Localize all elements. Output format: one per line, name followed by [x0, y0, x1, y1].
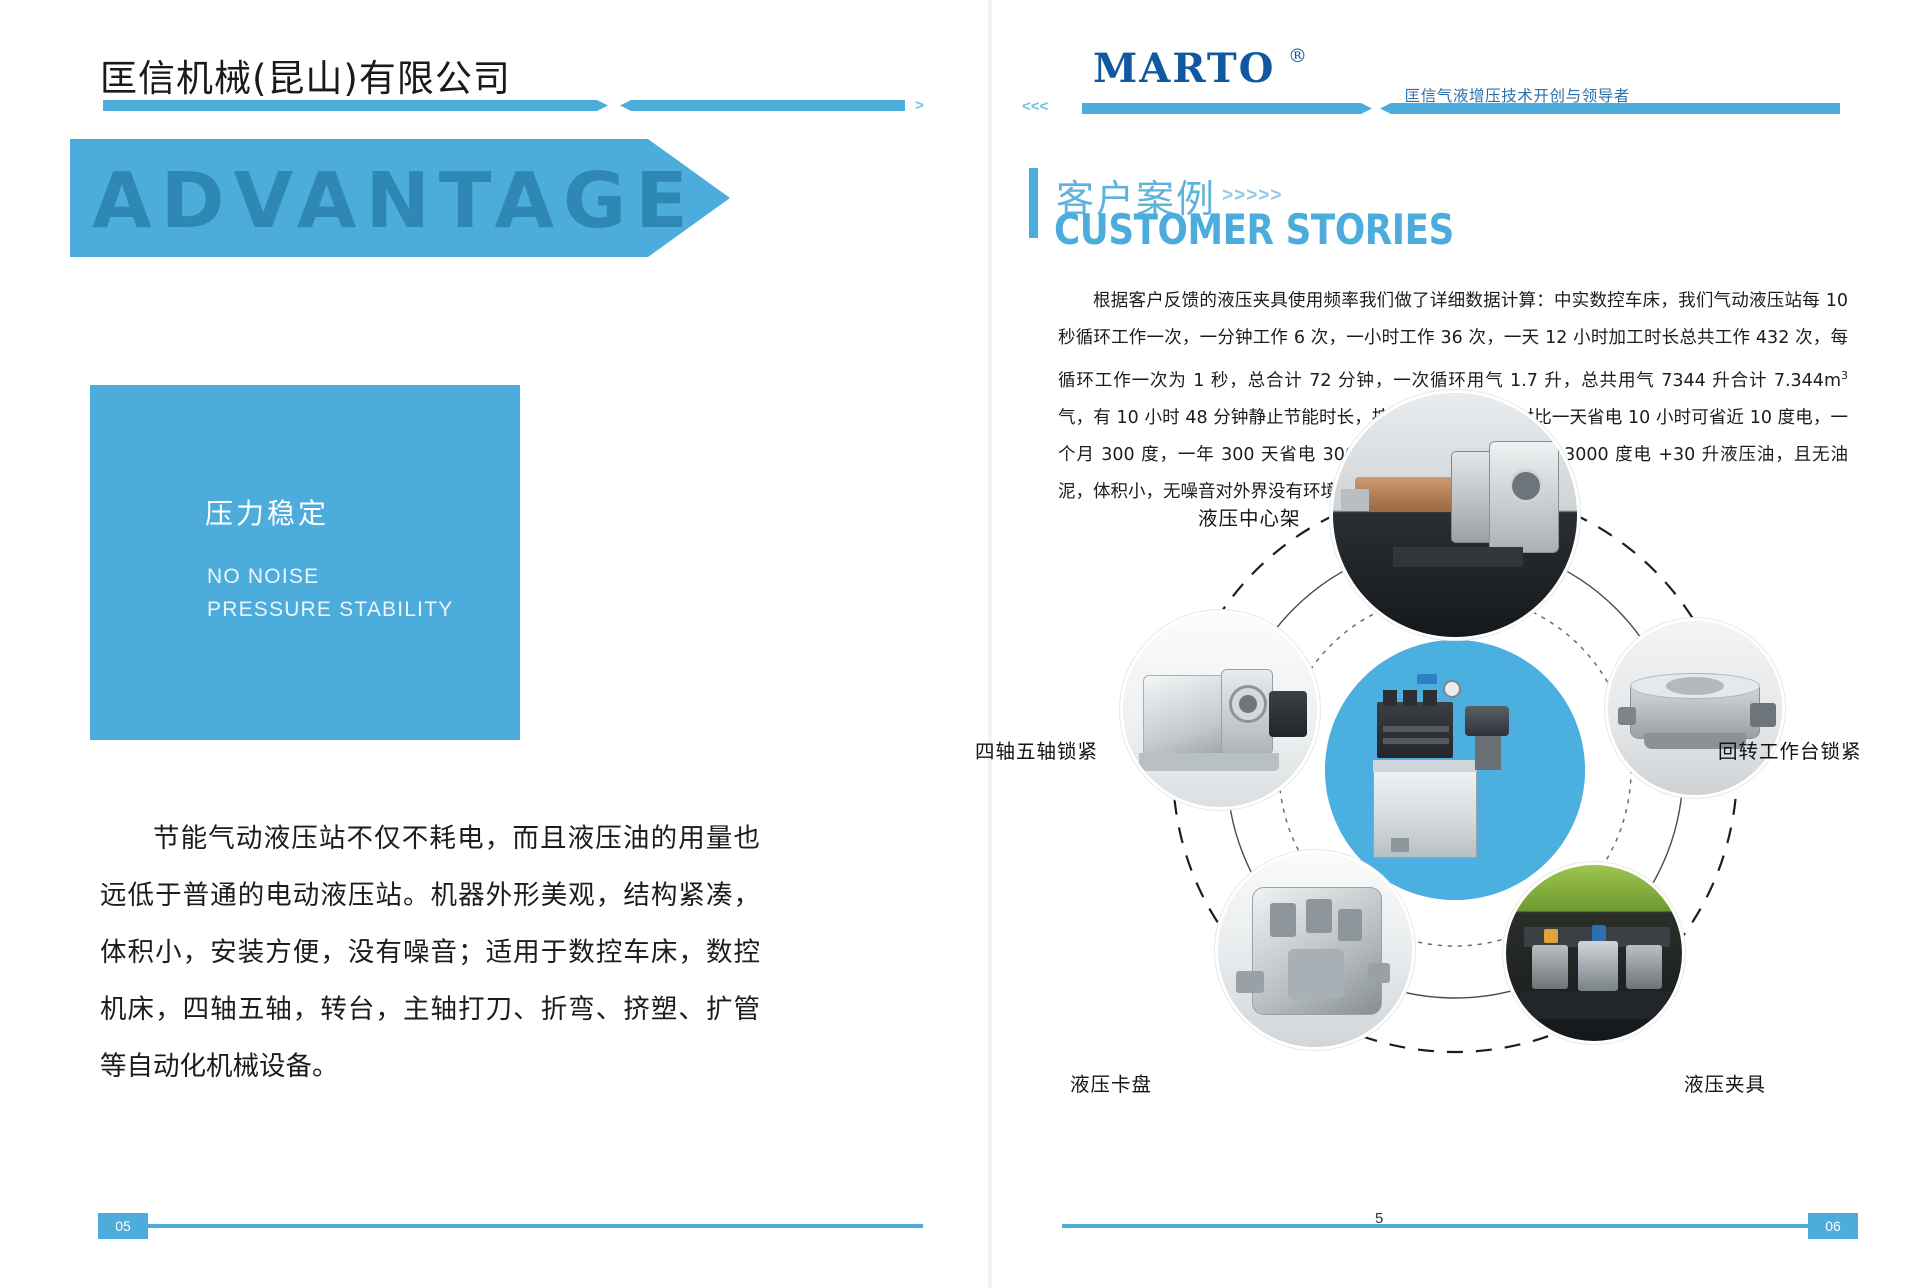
page-number-right: 06	[1808, 1213, 1858, 1239]
company-tagline: 匡信气液增压技术开创与领导者	[1405, 84, 1630, 106]
footer-rule-left	[103, 1224, 923, 1228]
left-body-paragraph: 节能气动液压站不仅不耗电，而且液压油的用量也远低于普通的电动液压站。机器外形美观…	[100, 810, 760, 1095]
registered-trademark-icon: ®	[1288, 45, 1307, 67]
label-hydraulic-center-frame: 液压中心架	[1198, 502, 1301, 531]
node-four-five-axis-clamp	[1120, 610, 1320, 810]
photo-hydraulic-chuck	[1218, 853, 1412, 1047]
feature-callout-box	[90, 385, 520, 740]
label-rotary-table-clamp: 回转工作台锁紧	[1718, 735, 1862, 764]
node-hydraulic-fixture	[1503, 862, 1685, 1044]
marto-logo: MARTO	[1093, 45, 1275, 92]
chevrons-right-icon: >>>>>	[1222, 185, 1282, 207]
cubic-meter-superscript: 3	[1841, 369, 1848, 382]
node-hydraulic-chuck	[1215, 850, 1415, 1050]
feature-title-cn: 压力稳定	[205, 492, 329, 532]
label-hydraulic-fixture: 液压夹具	[1684, 1068, 1766, 1097]
advantage-title: ADVANTAGE	[92, 160, 697, 244]
photo-four-five-axis-clamp	[1123, 613, 1317, 807]
footer-rule-right	[1062, 1224, 1852, 1228]
label-hydraulic-chuck: 液压卡盘	[1070, 1068, 1152, 1097]
chevron-right-icon: >	[915, 99, 924, 112]
page-number-left: 05	[98, 1213, 148, 1239]
feature-subtitle-no-noise: NO NOISE	[207, 565, 319, 589]
node-rotary-table-clamp	[1605, 618, 1785, 798]
header-bar-left-segment-1	[103, 100, 608, 111]
node-hydraulic-center-frame	[1330, 390, 1580, 640]
company-name: 匡信机械(昆山)有限公司	[100, 48, 511, 102]
page-number-center: 5	[1375, 1210, 1383, 1227]
section-title-en: CUSTOMER STORIES	[1054, 205, 1454, 254]
header-bar-right-segment-1	[1082, 103, 1372, 114]
left-page: 匡信机械(昆山)有限公司 > ADVANTAGE 压力稳定 NO NOISE P…	[0, 0, 990, 1288]
customer-application-diagram	[990, 470, 1920, 1170]
feature-subtitle-pressure-stability: PRESSURE STABILITY	[207, 598, 453, 622]
photo-hydraulic-center-frame	[1333, 393, 1577, 637]
paragraph-part-1: 根据客户反馈的液压夹具使用频率我们做了详细数据计算：中实数控车床，我们气动液压站…	[1058, 291, 1848, 391]
header-bar-left-segment-2	[620, 100, 905, 111]
header-bar-right-segment-2	[1380, 103, 1840, 114]
photo-rotary-table-clamp	[1608, 621, 1782, 795]
photo-hydraulic-fixture	[1506, 865, 1682, 1041]
brochure-spread: 匡信机械(昆山)有限公司 > ADVANTAGE 压力稳定 NO NOISE P…	[0, 0, 1920, 1288]
chevron-left-icon: <<<	[1022, 100, 1048, 113]
label-four-five-axis-clamp: 四轴五轴锁紧	[975, 735, 1098, 764]
section-accent-bar	[1029, 168, 1038, 238]
